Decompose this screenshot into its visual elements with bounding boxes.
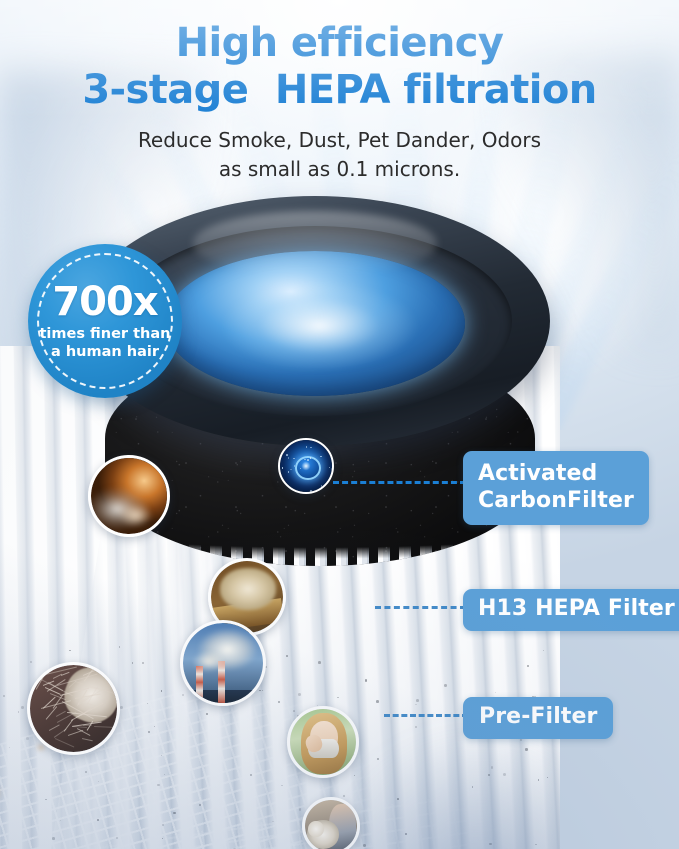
- subhead-block: Reduce Smoke, Dust, Pet Dander, Odors as…: [0, 126, 679, 184]
- factory-photo: [180, 620, 266, 706]
- subhead-line-1: Reduce Smoke, Dust, Pet Dander, Odors: [138, 128, 541, 152]
- callout-activated-carbon-line1: Activated: [478, 460, 597, 487]
- badge-line1: times finer than: [40, 325, 171, 343]
- badge-line2: a human hair: [51, 343, 159, 361]
- callout-pre-filter[interactable]: Pre-Filter: [463, 697, 613, 739]
- smoke-photo: [88, 455, 170, 537]
- dog-owner-photo: [302, 797, 360, 849]
- headline-block: High efficiency 3-stage HEPA filtration …: [0, 20, 679, 184]
- callout-h13-hepa[interactable]: H13 HEPA Filter: [463, 589, 679, 631]
- headline-line-2: 3-stage HEPA filtration: [0, 67, 679, 114]
- headline-line-1: High efficiency: [0, 20, 679, 67]
- badge-value: 700x: [52, 282, 157, 322]
- tech-photo: [278, 438, 334, 494]
- product-infographic: Activated CarbonFilter H13 HEPA Filter P…: [0, 0, 679, 849]
- leader-line-activated-carbon: [333, 481, 466, 484]
- leader-line-pre-filter: [384, 714, 468, 717]
- finer-than-hair-badge: 700x times finer than a human hair: [28, 244, 182, 398]
- subhead-line-2: as small as 0.1 microns.: [0, 155, 679, 184]
- callout-pre-filter-label: Pre-Filter: [479, 704, 597, 730]
- callout-activated-carbon[interactable]: Activated CarbonFilter: [463, 451, 649, 525]
- leader-line-h13-hepa: [375, 606, 466, 609]
- callout-activated-carbon-line2: CarbonFilter: [478, 487, 634, 514]
- callout-h13-hepa-label: H13 HEPA Filter: [478, 596, 675, 622]
- mask-photo: [287, 706, 359, 778]
- pet-dander-photo: [27, 662, 120, 755]
